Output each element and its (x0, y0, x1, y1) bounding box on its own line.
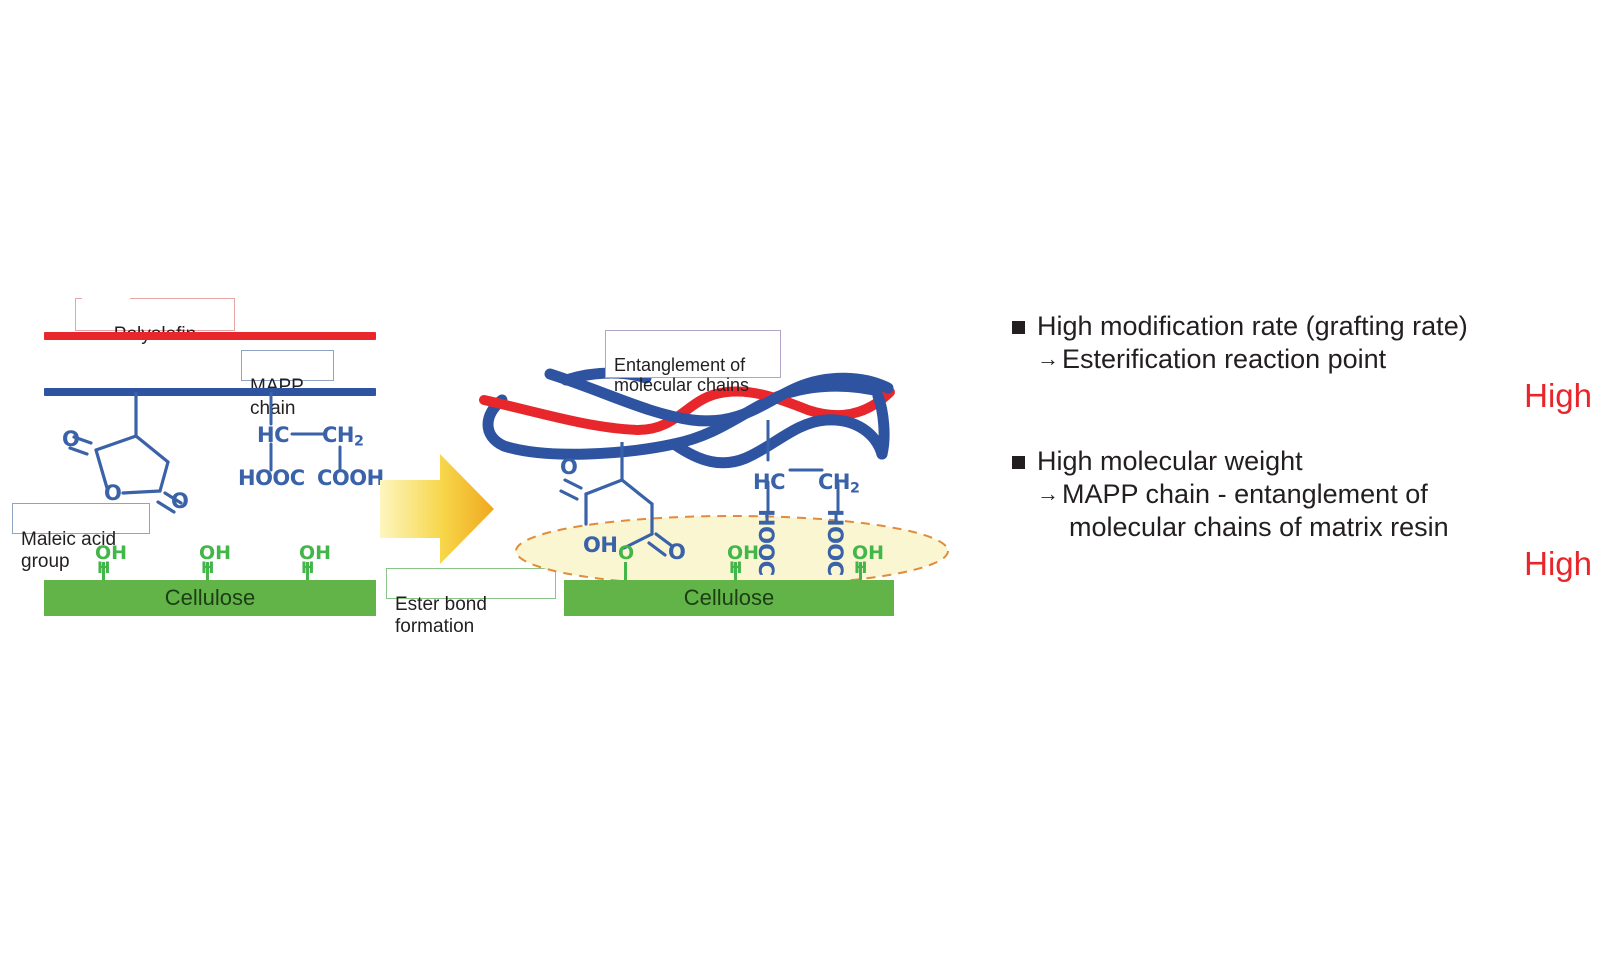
anhydride-o-double-bottom: O (171, 489, 188, 513)
square-bullet-icon (1012, 456, 1025, 469)
succinic-ch2-right: CH2 (818, 470, 859, 497)
succinic-hc-left: HC (257, 423, 289, 447)
note-2-detail-text: MAPP chain - entanglement of (1062, 478, 1428, 511)
note-1-verdict: High (1012, 376, 1592, 416)
diagram-canvas: Polyolefin MAPP chain O O O (0, 0, 1616, 961)
anhydride-o-double-left: O (62, 427, 79, 451)
entanglement-label-box: Entanglement of molecular chains (605, 330, 781, 378)
mapp-label-box: MAPP chain (241, 350, 334, 381)
cellulose-bar-right: Cellulose (564, 580, 894, 616)
ester-bond-label: Ester bond formation (395, 594, 487, 637)
note-1-detail-text: Esterification reaction point (1062, 343, 1386, 376)
anhydride-o-ring: O (104, 481, 121, 505)
entanglement-label: Entanglement of molecular chains (614, 355, 749, 396)
maleic-label-box: Maleic acid group (12, 503, 150, 534)
succinic-hooc-right-2: HOOC (823, 509, 847, 576)
polyolefin-bar (44, 332, 376, 340)
polyolefin-box-top-dash (82, 297, 130, 300)
succinic-hooc-left: HOOC (238, 466, 305, 490)
succinic-hc-right: HC (753, 470, 785, 494)
notes-panel: High modification rate (grafting rate) →… (1012, 310, 1592, 584)
succinic-ch2-left: CH2 (322, 423, 363, 450)
ester-oh: OH (583, 533, 617, 557)
ester-o-double-left: O (560, 455, 577, 479)
square-bullet-icon (1012, 321, 1025, 334)
note-1-detail-row: → Esterification reaction point (1037, 343, 1592, 376)
cellulose-label-right: Cellulose (684, 585, 775, 611)
notes-spacer (1012, 415, 1592, 445)
polyolefin-label-box: Polyolefin (75, 298, 235, 331)
note-1-bullet-text: High modification rate (grafting rate) (1037, 310, 1468, 343)
note-1-bullet-row: High modification rate (grafting rate) (1012, 310, 1592, 343)
note-2-bullet-row: High molecular weight (1012, 445, 1592, 478)
cellulose-bar-left: Cellulose (44, 580, 376, 616)
note-item-1: High modification rate (grafting rate) →… (1012, 310, 1592, 415)
arrow-glyph-icon: → (1037, 343, 1059, 375)
cellulose-label-left: Cellulose (165, 585, 256, 611)
succinic-cooh-left: COOH (317, 466, 384, 490)
note-2-verdict: High (1012, 544, 1592, 584)
ester-o-double-right: O (668, 540, 685, 564)
arrow-glyph-icon: → (1037, 478, 1059, 510)
maleic-anhydride-structure (50, 392, 230, 517)
note-2-bullet-text: High molecular weight (1037, 445, 1303, 478)
note-item-2: High molecular weight → MAPP chain - ent… (1012, 445, 1592, 583)
note-2-detail-continuation: molecular chains of matrix resin (1069, 511, 1592, 544)
note-2-detail-row: → MAPP chain - entanglement of (1037, 478, 1592, 511)
